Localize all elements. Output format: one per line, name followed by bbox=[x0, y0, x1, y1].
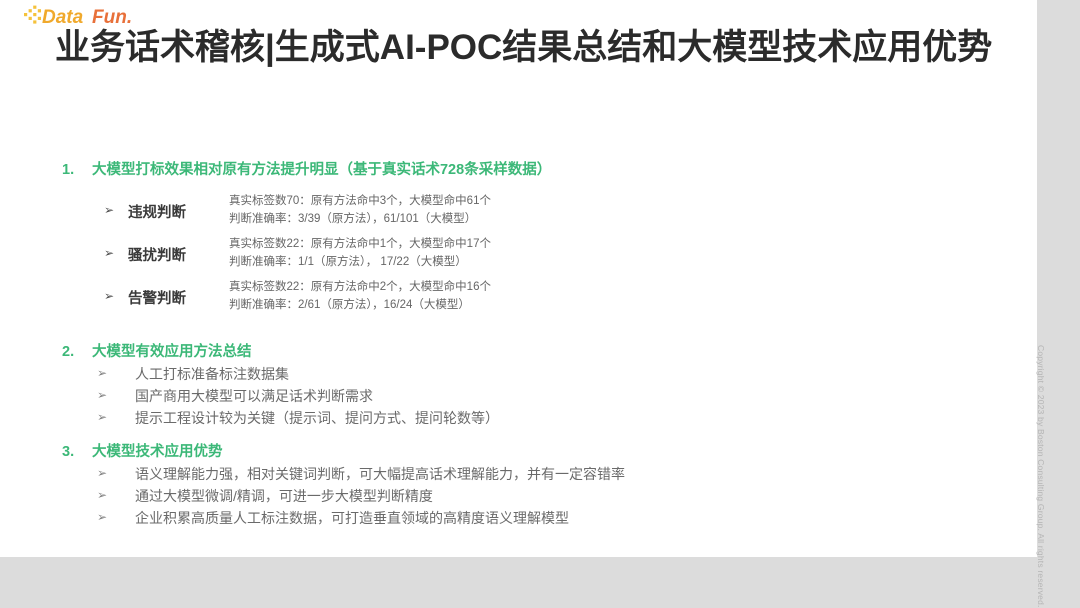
kv-label-alert: 告警判断 bbox=[128, 287, 186, 308]
arrow-bullet-icon: ➢ bbox=[104, 289, 114, 303]
list-item-label: 国产商用大模型可以满足话术判断需求 bbox=[135, 386, 373, 407]
kv-row-harassment: ➢ 骚扰判断 真实标签数22：原有方法命中1个，大模型命中17个 判断准确率：1… bbox=[104, 235, 864, 278]
arrow-bullet-icon: ➢ bbox=[97, 366, 107, 380]
section-3-title: 大模型技术应用优势 bbox=[92, 442, 223, 462]
svg-text:Fun.: Fun. bbox=[92, 7, 132, 27]
page-title: 业务话术稽核|生成式AI-POC结果总结和大模型技术应用优势 bbox=[55, 26, 1005, 70]
arrow-bullet-icon: ➢ bbox=[97, 510, 107, 524]
list-item-label: 通过大模型微调/精调，可进一步大模型判断精度 bbox=[135, 486, 433, 507]
section-2-number: 2. bbox=[62, 342, 74, 362]
arrow-bullet-icon: ➢ bbox=[97, 388, 107, 402]
datafun-logo-icon: Data Fun. bbox=[24, 5, 156, 27]
kv-detail-alert: 真实标签数22：原有方法命中2个，大模型命中16个 判断准确率：2/61（原方法… bbox=[229, 278, 491, 314]
kv-detail-violation-line1: 真实标签数70：原有方法命中3个，大模型命中61个 bbox=[229, 192, 491, 210]
section-1-number: 1. bbox=[62, 160, 74, 180]
kv-label-harassment: 骚扰判断 bbox=[128, 244, 186, 265]
list-item-label: 人工打标准备标注数据集 bbox=[135, 364, 289, 385]
arrow-bullet-icon: ➢ bbox=[97, 410, 107, 424]
section-1-title: 大模型打标效果相对原有方法提升明显（基于真实话术728条采样数据） bbox=[92, 160, 551, 180]
list-item-label: 语义理解能力强，相对关键词判断，可大幅提高话术理解能力，并有一定容错率 bbox=[135, 464, 625, 485]
arrow-bullet-icon: ➢ bbox=[104, 203, 114, 217]
kv-label-violation: 违规判断 bbox=[128, 201, 186, 222]
kv-detail-harassment-line2: 判断准确率：1/1（原方法）， 17/22（大模型） bbox=[229, 253, 491, 271]
kv-detail-alert-line2: 判断准确率：2/61（原方法），16/24（大模型） bbox=[229, 296, 491, 314]
copyright-notice: Copyright © 2023 by Boston Consulting Gr… bbox=[1036, 345, 1046, 608]
slide-canvas: Data Fun. 业务话术稽核|生成式AI-POC结果总结和大模型技术应用优势… bbox=[0, 0, 1037, 557]
list-item-label: 企业积累高质量人工标注数据，可打造垂直领域的高精度语义理解模型 bbox=[135, 508, 569, 529]
arrow-bullet-icon: ➢ bbox=[104, 246, 114, 260]
kv-detail-harassment-line1: 真实标签数22：原有方法命中1个，大模型命中17个 bbox=[229, 235, 491, 253]
list-item-label: 提示工程设计较为关键（提示词、提问方式、提问轮数等） bbox=[135, 408, 499, 429]
kv-row-alert: ➢ 告警判断 真实标签数22：原有方法命中2个，大模型命中16个 判断准确率：2… bbox=[104, 278, 864, 321]
kv-detail-violation-line2: 判断准确率：3/39（原方法），61/101（大模型） bbox=[229, 210, 491, 228]
kv-detail-violation: 真实标签数70：原有方法命中3个，大模型命中61个 判断准确率：3/39（原方法… bbox=[229, 192, 491, 228]
kv-detail-alert-line1: 真实标签数22：原有方法命中2个，大模型命中16个 bbox=[229, 278, 491, 296]
section-3-number: 3. bbox=[62, 442, 74, 462]
kv-row-violation: ➢ 违规判断 真实标签数70：原有方法命中3个，大模型命中61个 判断准确率：3… bbox=[104, 192, 864, 235]
datafun-logo: Data Fun. bbox=[24, 5, 156, 27]
section-2-title: 大模型有效应用方法总结 bbox=[92, 342, 252, 362]
kv-detail-harassment: 真实标签数22：原有方法命中1个，大模型命中17个 判断准确率：1/1（原方法）… bbox=[229, 235, 491, 271]
arrow-bullet-icon: ➢ bbox=[97, 466, 107, 480]
svg-text:Data: Data bbox=[42, 7, 84, 27]
arrow-bullet-icon: ➢ bbox=[97, 488, 107, 502]
